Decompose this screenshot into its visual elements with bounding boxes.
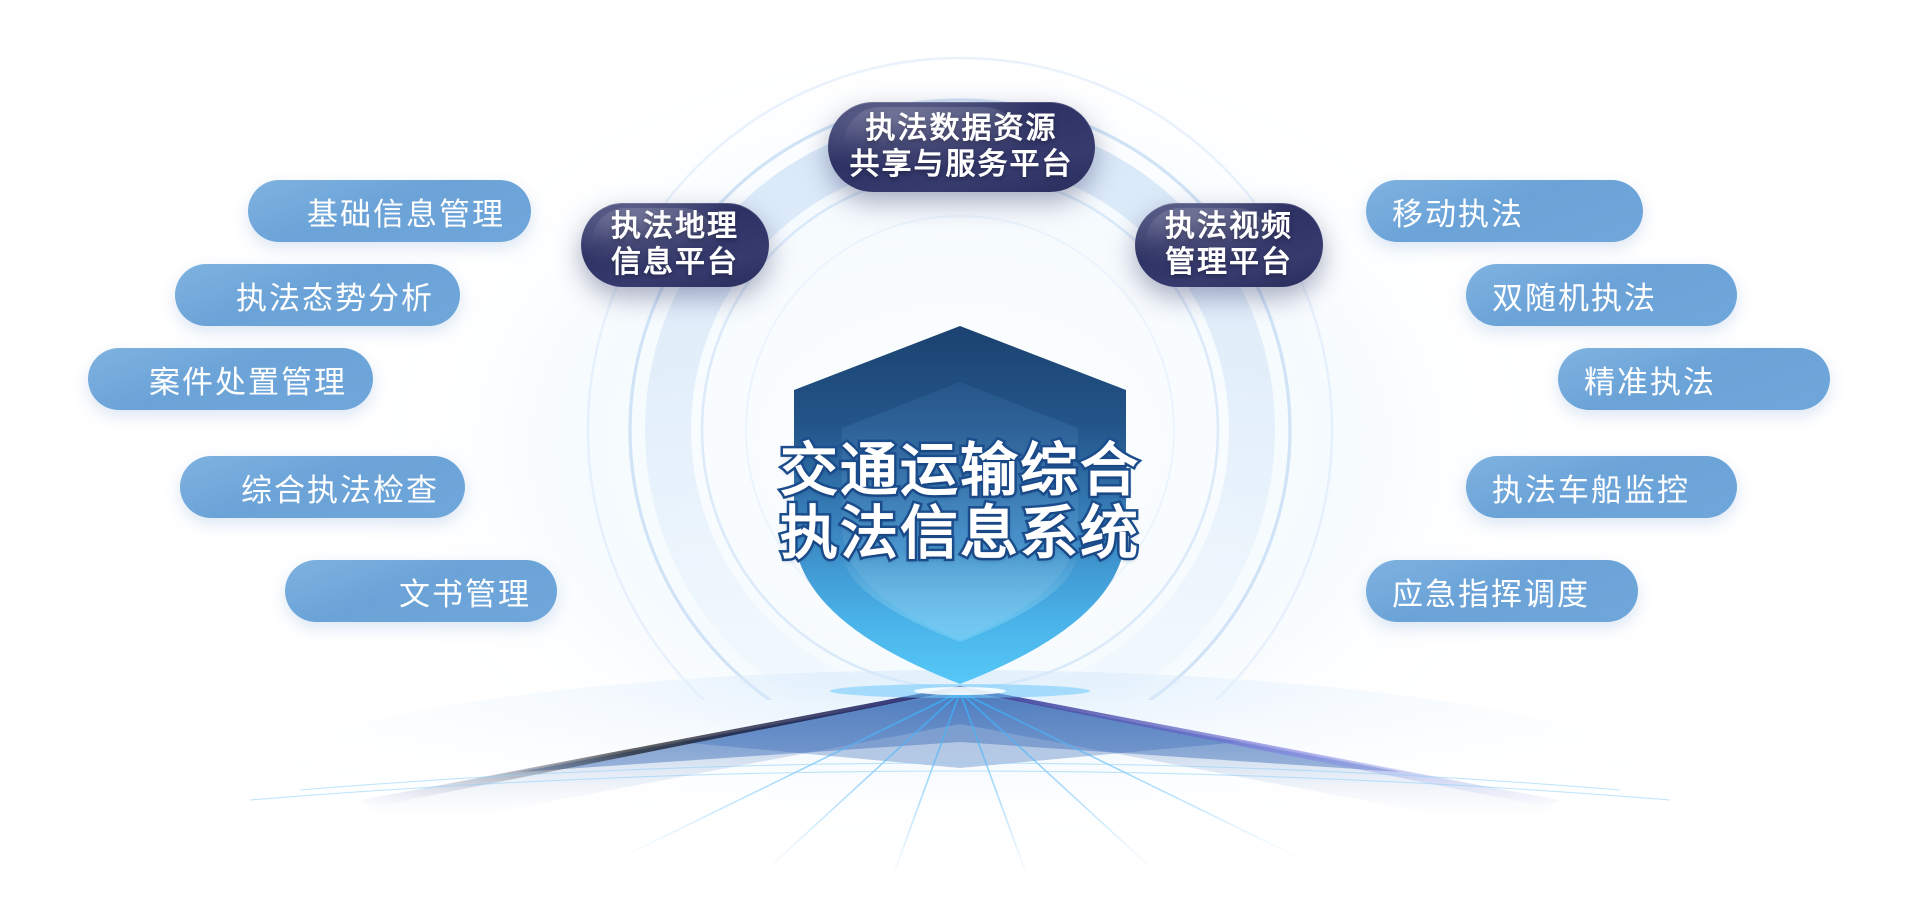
module-label: 双随机执法 [1492,273,1657,318]
module-pill-right-2[interactable]: 双随机执法 [1466,264,1737,326]
module-label: 案件处置管理 [149,357,347,402]
module-pill-left-1[interactable]: 基础信息管理 [248,180,531,242]
module-pill-right-1[interactable]: 移动执法 [1366,180,1643,242]
system-title: 交通运输综合 执法信息系统 [560,440,1360,565]
infographic-canvas: 交通运输综合 执法信息系统 执法地理 信息平台 执法数据资源 共享与服务平台 执… [0,0,1920,911]
module-label: 移动执法 [1392,189,1524,234]
module-pill-left-4[interactable]: 综合执法检查 [180,456,465,518]
perspective-ground [240,670,1680,910]
module-pill-left-3[interactable]: 案件处置管理 [88,348,373,410]
module-pill-left-2[interactable]: 执法态势分析 [175,264,460,326]
platform-data-line1: 执法数据资源 [866,111,1058,147]
module-label: 执法车船监控 [1492,465,1690,510]
platform-pill-geo[interactable]: 执法地理 信息平台 [581,203,769,287]
module-label: 基础信息管理 [307,189,505,234]
platform-pill-video[interactable]: 执法视频 管理平台 [1135,203,1323,287]
platform-geo-line1: 执法地理 [611,209,739,245]
module-pill-right-5[interactable]: 应急指挥调度 [1366,560,1638,622]
module-pill-left-5[interactable]: 文书管理 [285,560,557,622]
system-title-line2: 执法信息系统 [560,503,1360,566]
platform-pill-data[interactable]: 执法数据资源 共享与服务平台 [828,102,1095,192]
module-pill-right-4[interactable]: 执法车船监控 [1466,456,1737,518]
module-label: 应急指挥调度 [1392,569,1590,614]
module-label: 精准执法 [1584,357,1716,402]
module-label: 执法态势分析 [236,273,434,318]
platform-video-line1: 执法视频 [1165,209,1293,245]
module-label: 文书管理 [399,569,531,614]
platform-data-line2: 共享与服务平台 [850,147,1074,183]
platform-video-line2: 管理平台 [1165,245,1293,281]
system-title-line1: 交通运输综合 [560,440,1360,503]
module-label: 综合执法检查 [241,465,439,510]
platform-geo-line2: 信息平台 [611,245,739,281]
module-pill-right-3[interactable]: 精准执法 [1558,348,1830,410]
